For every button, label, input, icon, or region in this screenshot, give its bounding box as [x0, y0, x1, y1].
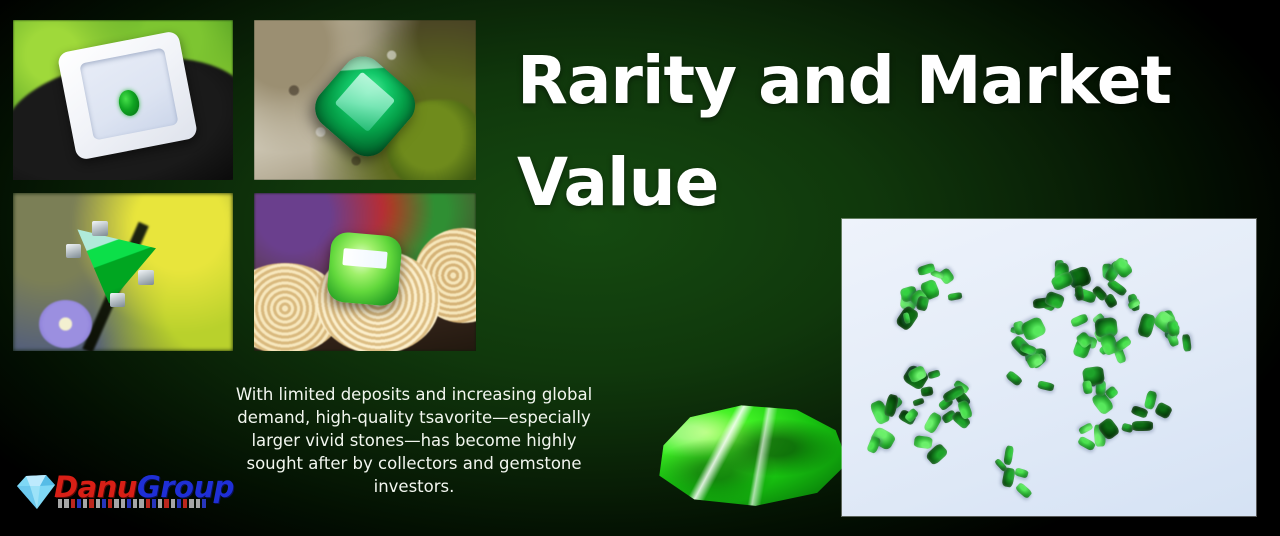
rough-crystal — [927, 369, 940, 379]
slide-canvas: Rarity and Market Value With limited dep… — [0, 0, 1280, 536]
rough-crystal — [1082, 381, 1093, 395]
rough-crystal — [1004, 370, 1023, 387]
rough-crystal — [1132, 421, 1153, 431]
rough-crystal — [916, 295, 929, 311]
rough-crystal — [914, 434, 934, 448]
rough-crystal — [1003, 445, 1014, 465]
rough-crystal — [1154, 402, 1173, 420]
rough-crystal — [948, 292, 963, 301]
gallery-image-gem-in-display-box[interactable] — [13, 20, 233, 180]
gallery-image-gem-on-wood-slices[interactable] — [254, 193, 476, 351]
gem-icon — [14, 473, 58, 511]
rough-crystal — [923, 412, 943, 435]
rough-crystal — [1015, 481, 1032, 498]
rough-crystal — [1136, 312, 1156, 338]
rough-crystal — [1167, 320, 1181, 337]
rough-crystal — [1076, 435, 1095, 451]
rough-crystal — [1078, 422, 1093, 435]
rough-tsavorite-parcel-image[interactable] — [842, 219, 1256, 516]
rough-crystal — [1074, 285, 1084, 301]
photo-gem-in-display-box — [13, 20, 233, 180]
rough-crystal — [1070, 313, 1089, 328]
rough-crystal — [1037, 381, 1054, 392]
photo-gem-on-wood-slices — [254, 193, 476, 351]
rough-crystal — [866, 436, 881, 454]
page-title: Rarity and Market Value — [517, 30, 1217, 234]
photo-cushion-gem-on-rock — [254, 20, 476, 180]
rough-crystal — [912, 397, 924, 406]
rough-crystal — [1114, 335, 1133, 352]
gallery-image-trillion-gem-ring[interactable] — [13, 193, 233, 351]
rough-crystal — [1181, 333, 1191, 351]
rough-crystal-field — [842, 219, 1256, 516]
rough-tsavorite-crystal-image — [645, 400, 850, 508]
rough-crystal — [883, 393, 898, 417]
rough-crystal — [920, 385, 934, 396]
photo-trillion-gem-ring — [13, 193, 233, 351]
brand-logo[interactable]: DanuGroup — [14, 470, 210, 516]
rough-crystal — [1014, 468, 1029, 479]
body-paragraph: With limited deposits and increasing glo… — [228, 383, 600, 498]
logo-tagline — [58, 499, 206, 508]
gallery-image-cushion-gem-on-rock[interactable] — [254, 20, 476, 180]
